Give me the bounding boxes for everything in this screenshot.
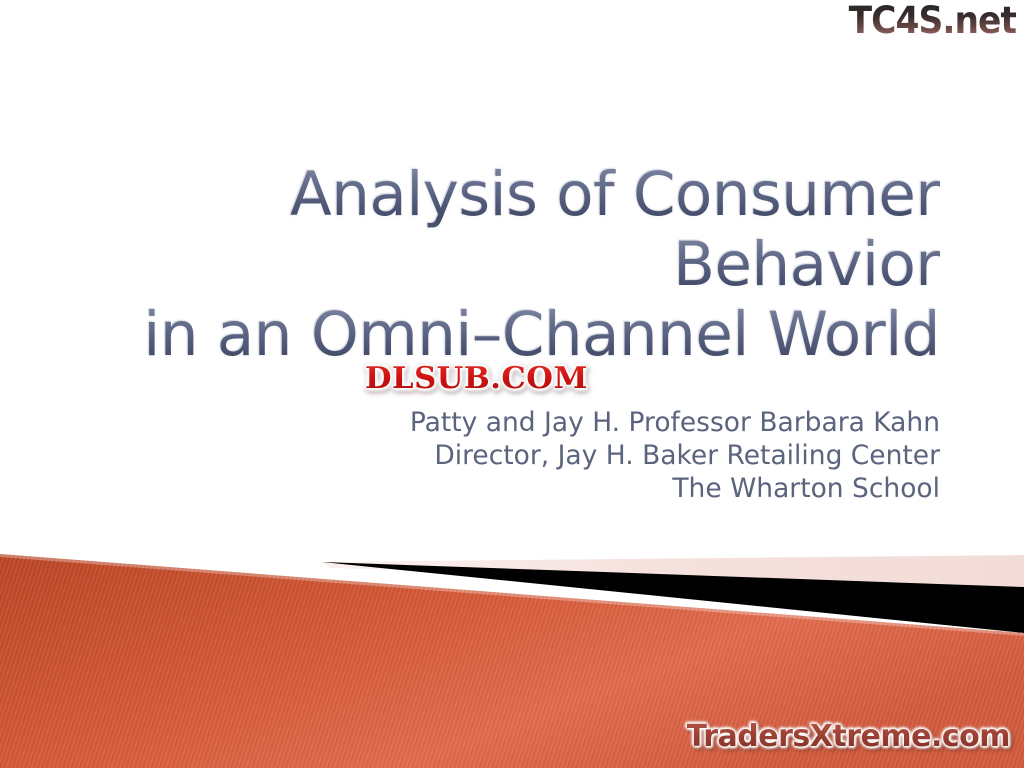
slide-title: Analysis of Consumer Behavior in an Omni… [60,160,940,370]
tradersxtreme-watermark: TradersXtreme.com [687,720,1010,754]
title-line-3: in an Omni–Channel World [60,300,940,370]
slide-subtitle: Patty and Jay H. Professor Barbara Kahn … [60,406,940,505]
presentation-slide: TC4S.net [0,0,1024,768]
title-line-2: Behavior [60,230,940,300]
dlsub-watermark: DLSUB.COM [365,363,588,395]
subtitle-line-institution: The Wharton School [60,472,940,505]
title-line-1: Analysis of Consumer [60,160,940,230]
subtitle-line-presenter: Patty and Jay H. Professor Barbara Kahn [60,406,940,439]
tc4s-watermark: TC4S.net [849,2,1016,39]
subtitle-line-role: Director, Jay H. Baker Retailing Center [60,439,940,472]
